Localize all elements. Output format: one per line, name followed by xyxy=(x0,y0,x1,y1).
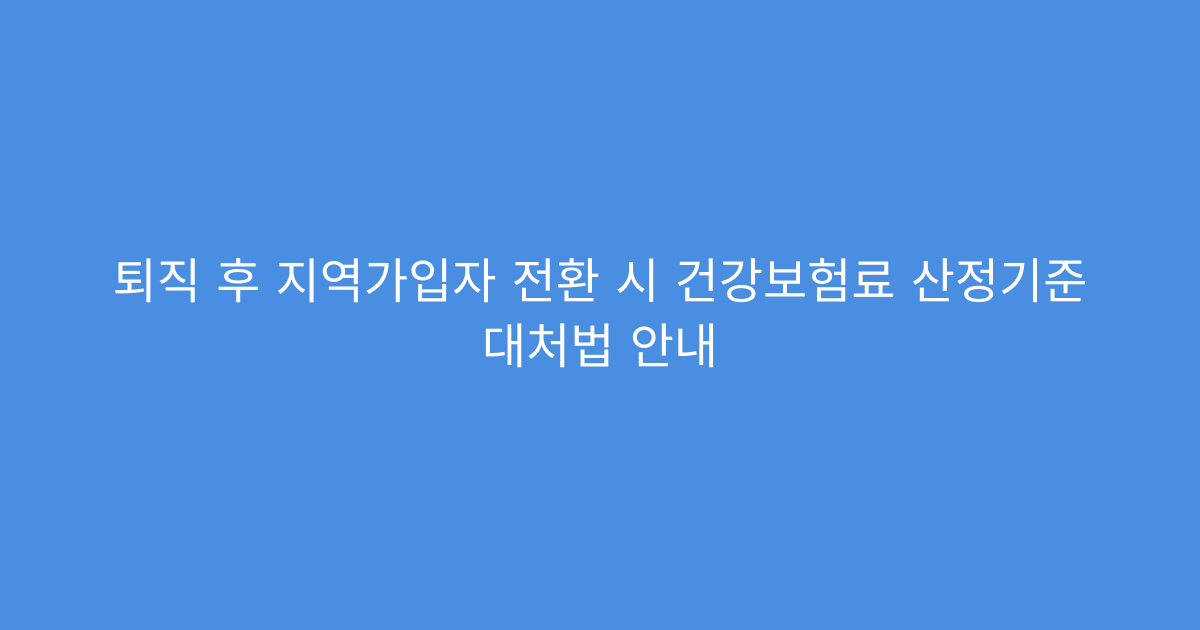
og-banner-card: 퇴직 후 지역가입자 전환 시 건강보험료 산정기준 대처법 안내 xyxy=(0,0,1200,630)
page-title: 퇴직 후 지역가입자 전환 시 건강보험료 산정기준 대처법 안내 xyxy=(40,250,1160,380)
title-block: 퇴직 후 지역가입자 전환 시 건강보험료 산정기준 대처법 안내 xyxy=(40,250,1160,380)
